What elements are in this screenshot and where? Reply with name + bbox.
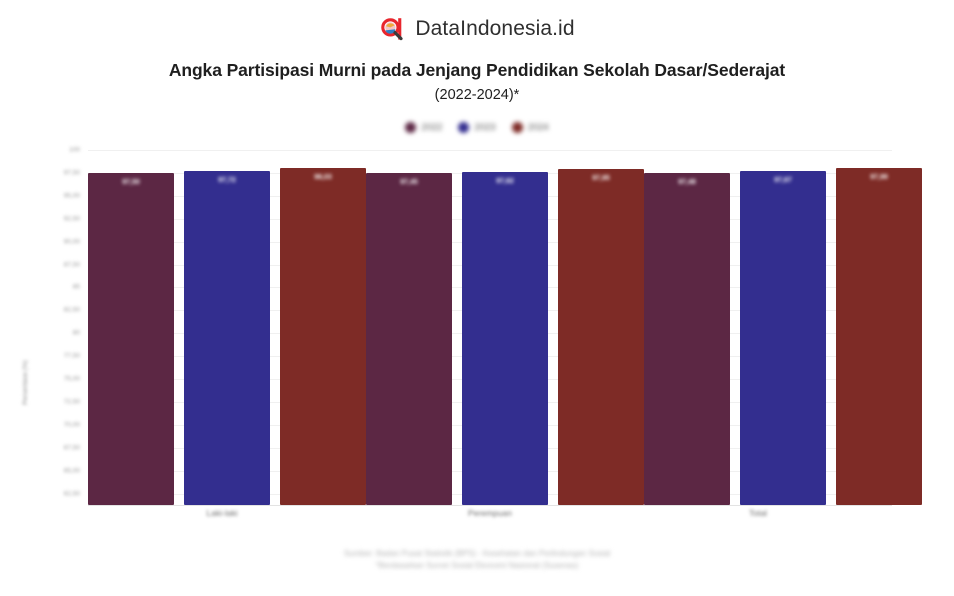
x-axis-label: Perempuan [356,508,624,518]
bar-groups: 97,5097,7298,0397,4597,6297,9597,4897,67… [88,150,892,505]
bar-2022-perempuan[interactable]: 97,45 [366,173,452,505]
bar-value-label: 97,45 [366,179,452,186]
bar-2023-total[interactable]: 97,67 [740,171,826,505]
legend-swatch-icon [405,122,416,133]
x-axis-label: Laki-laki [88,508,356,518]
bar-group-laki-laki: 97,5097,7298,03 [88,150,366,505]
chart-title-block: Angka Partisipasi Murni pada Jenjang Pen… [0,60,954,103]
axis-baseline [88,505,892,506]
bar-value-label: 97,48 [644,179,730,186]
bar-value-label: 97,67 [740,177,826,184]
legend-label: 2022 [421,122,442,133]
bar-2024-perempuan[interactable]: 97,95 [558,169,644,505]
y-axis-tick-label: 72,50 [64,398,80,405]
legend-item-2023[interactable]: 2023 [458,122,495,133]
bar-2022-laki-laki[interactable]: 97,50 [88,173,174,505]
y-axis-title: Persentase (%) [22,360,29,405]
y-axis-tick-label: 77,50 [64,353,80,360]
legend-item-2024[interactable]: 2024 [512,122,549,133]
y-axis-tick-label: 80 [73,330,80,337]
y-axis-tick-label: 85 [73,284,80,291]
legend-label: 2024 [528,122,549,133]
bar-value-label: 97,95 [558,175,644,182]
bar-2023-perempuan[interactable]: 97,62 [462,172,548,505]
bar-2024-total[interactable]: 97,99 [836,168,922,505]
chart-footer: Sumber: Badan Pusat Statistik (BPS) - Ke… [0,548,954,573]
y-axis-tick-label: 75,00 [64,376,80,383]
y-axis-tick-label: 62,50 [64,490,80,497]
page-title: Angka Partisipasi Murni pada Jenjang Pen… [0,60,954,82]
bar-value-label: 97,72 [184,177,270,184]
footer-source: Sumber: Badan Pusat Statistik (BPS) - Ke… [0,548,954,560]
y-axis-tick-label: 97,50 [64,169,80,176]
y-axis-ticks: 10097,5095,0092,5090,0087,508582,508077,… [40,150,80,510]
y-axis-tick-label: 92,50 [64,215,80,222]
y-axis-tick-label: 70,00 [64,421,80,428]
y-axis-tick-label: 90,00 [64,238,80,245]
x-axis-label: Total [624,508,892,518]
bar-2022-total[interactable]: 97,48 [644,173,730,505]
chart-legend: 202220232024 [0,122,954,133]
y-axis-tick-label: 65,00 [64,467,80,474]
legend-swatch-icon [458,122,469,133]
bar-value-label: 98,03 [280,174,366,181]
y-axis-tick-label: 95,00 [64,192,80,199]
bar-value-label: 97,62 [462,178,548,185]
y-axis-tick-label: 100 [69,147,80,154]
legend-item-2022[interactable]: 2022 [405,122,442,133]
legend-label: 2023 [474,122,495,133]
footer-note: *Berdasarkan Survei Sosial Ekonomi Nasio… [0,560,954,572]
page-subtitle: (2022-2024)* [0,87,954,103]
dataindonesia-logo-icon [379,16,405,42]
brand-header: DataIndonesia.id [0,16,954,42]
y-axis-tick-label: 87,50 [64,261,80,268]
bar-2023-laki-laki[interactable]: 97,72 [184,171,270,505]
bar-value-label: 97,99 [836,174,922,181]
bar-value-label: 97,50 [88,179,174,186]
y-axis-tick-label: 67,50 [64,444,80,451]
legend-swatch-icon [512,122,523,133]
bar-group-total: 97,4897,6797,99 [644,150,922,505]
bar-2024-laki-laki[interactable]: 98,03 [280,168,366,505]
x-axis-labels: Laki-lakiPerempuanTotal [88,508,892,518]
y-axis-tick-label: 82,50 [64,307,80,314]
chart-plot-area: Persentase (%) 10097,5095,0092,5090,0087… [0,150,954,530]
bar-group-perempuan: 97,4597,6297,95 [366,150,644,505]
brand-name: DataIndonesia.id [415,17,574,41]
